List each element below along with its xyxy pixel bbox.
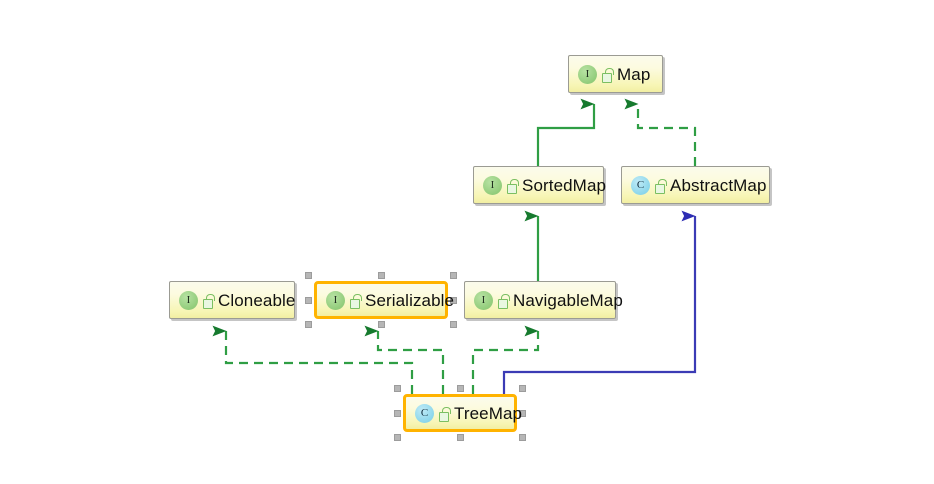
uml-node-label: AbstractMap [670,177,767,194]
resize-handle-s[interactable] [457,434,464,441]
uml-node-treemap[interactable]: CTreeMap [403,394,517,432]
uml-node-cloneable[interactable]: ICloneable [169,281,295,319]
resize-handle-se[interactable] [519,434,526,441]
edge-abstractmap-to-map [638,104,695,166]
edge-treemap-to-cloneable [226,331,412,394]
uml-node-label: TreeMap [454,405,522,422]
resize-handle-n[interactable] [457,385,464,392]
unlocked-icon [507,179,518,192]
uml-node-label: SortedMap [522,177,606,194]
resize-handle-ne[interactable] [519,385,526,392]
uml-diagram-canvas[interactable]: IMapISortedMapCAbstractMapICloneableISer… [0,0,934,484]
interface-badge-icon: I [179,291,198,310]
uml-node-sortedmap[interactable]: ISortedMap [473,166,604,204]
uml-node-serializable[interactable]: ISerializable [314,281,448,319]
edge-treemap-to-navigablemap [473,331,538,394]
resize-handle-se[interactable] [450,321,457,328]
resize-handle-w[interactable] [394,410,401,417]
edge-treemap-to-serializable [378,331,443,394]
interface-badge-icon: I [474,291,493,310]
uml-node-abstractmap[interactable]: CAbstractMap [621,166,770,204]
unlocked-icon [498,294,509,307]
interface-badge-icon: I [578,65,597,84]
unlocked-icon [655,179,666,192]
interface-badge-icon: I [326,291,345,310]
unlocked-icon [350,294,361,307]
uml-node-label: NavigableMap [513,292,623,309]
uml-node-label: Map [617,66,650,83]
resize-handle-s[interactable] [378,321,385,328]
uml-node-navigablemap[interactable]: INavigableMap [464,281,616,319]
edge-sortedmap-to-map [538,104,594,166]
interface-badge-icon: I [483,176,502,195]
resize-handle-ne[interactable] [450,272,457,279]
resize-handle-n[interactable] [378,272,385,279]
resize-handle-nw[interactable] [394,385,401,392]
class-badge-icon: C [415,404,434,423]
uml-node-map[interactable]: IMap [568,55,663,93]
resize-handle-sw[interactable] [305,321,312,328]
unlocked-icon [203,294,214,307]
class-badge-icon: C [631,176,650,195]
uml-node-label: Serializable [365,292,454,309]
resize-handle-sw[interactable] [394,434,401,441]
resize-handle-w[interactable] [305,297,312,304]
unlocked-icon [439,407,450,420]
uml-node-label: Cloneable [218,292,295,309]
unlocked-icon [602,68,613,81]
resize-handle-nw[interactable] [305,272,312,279]
